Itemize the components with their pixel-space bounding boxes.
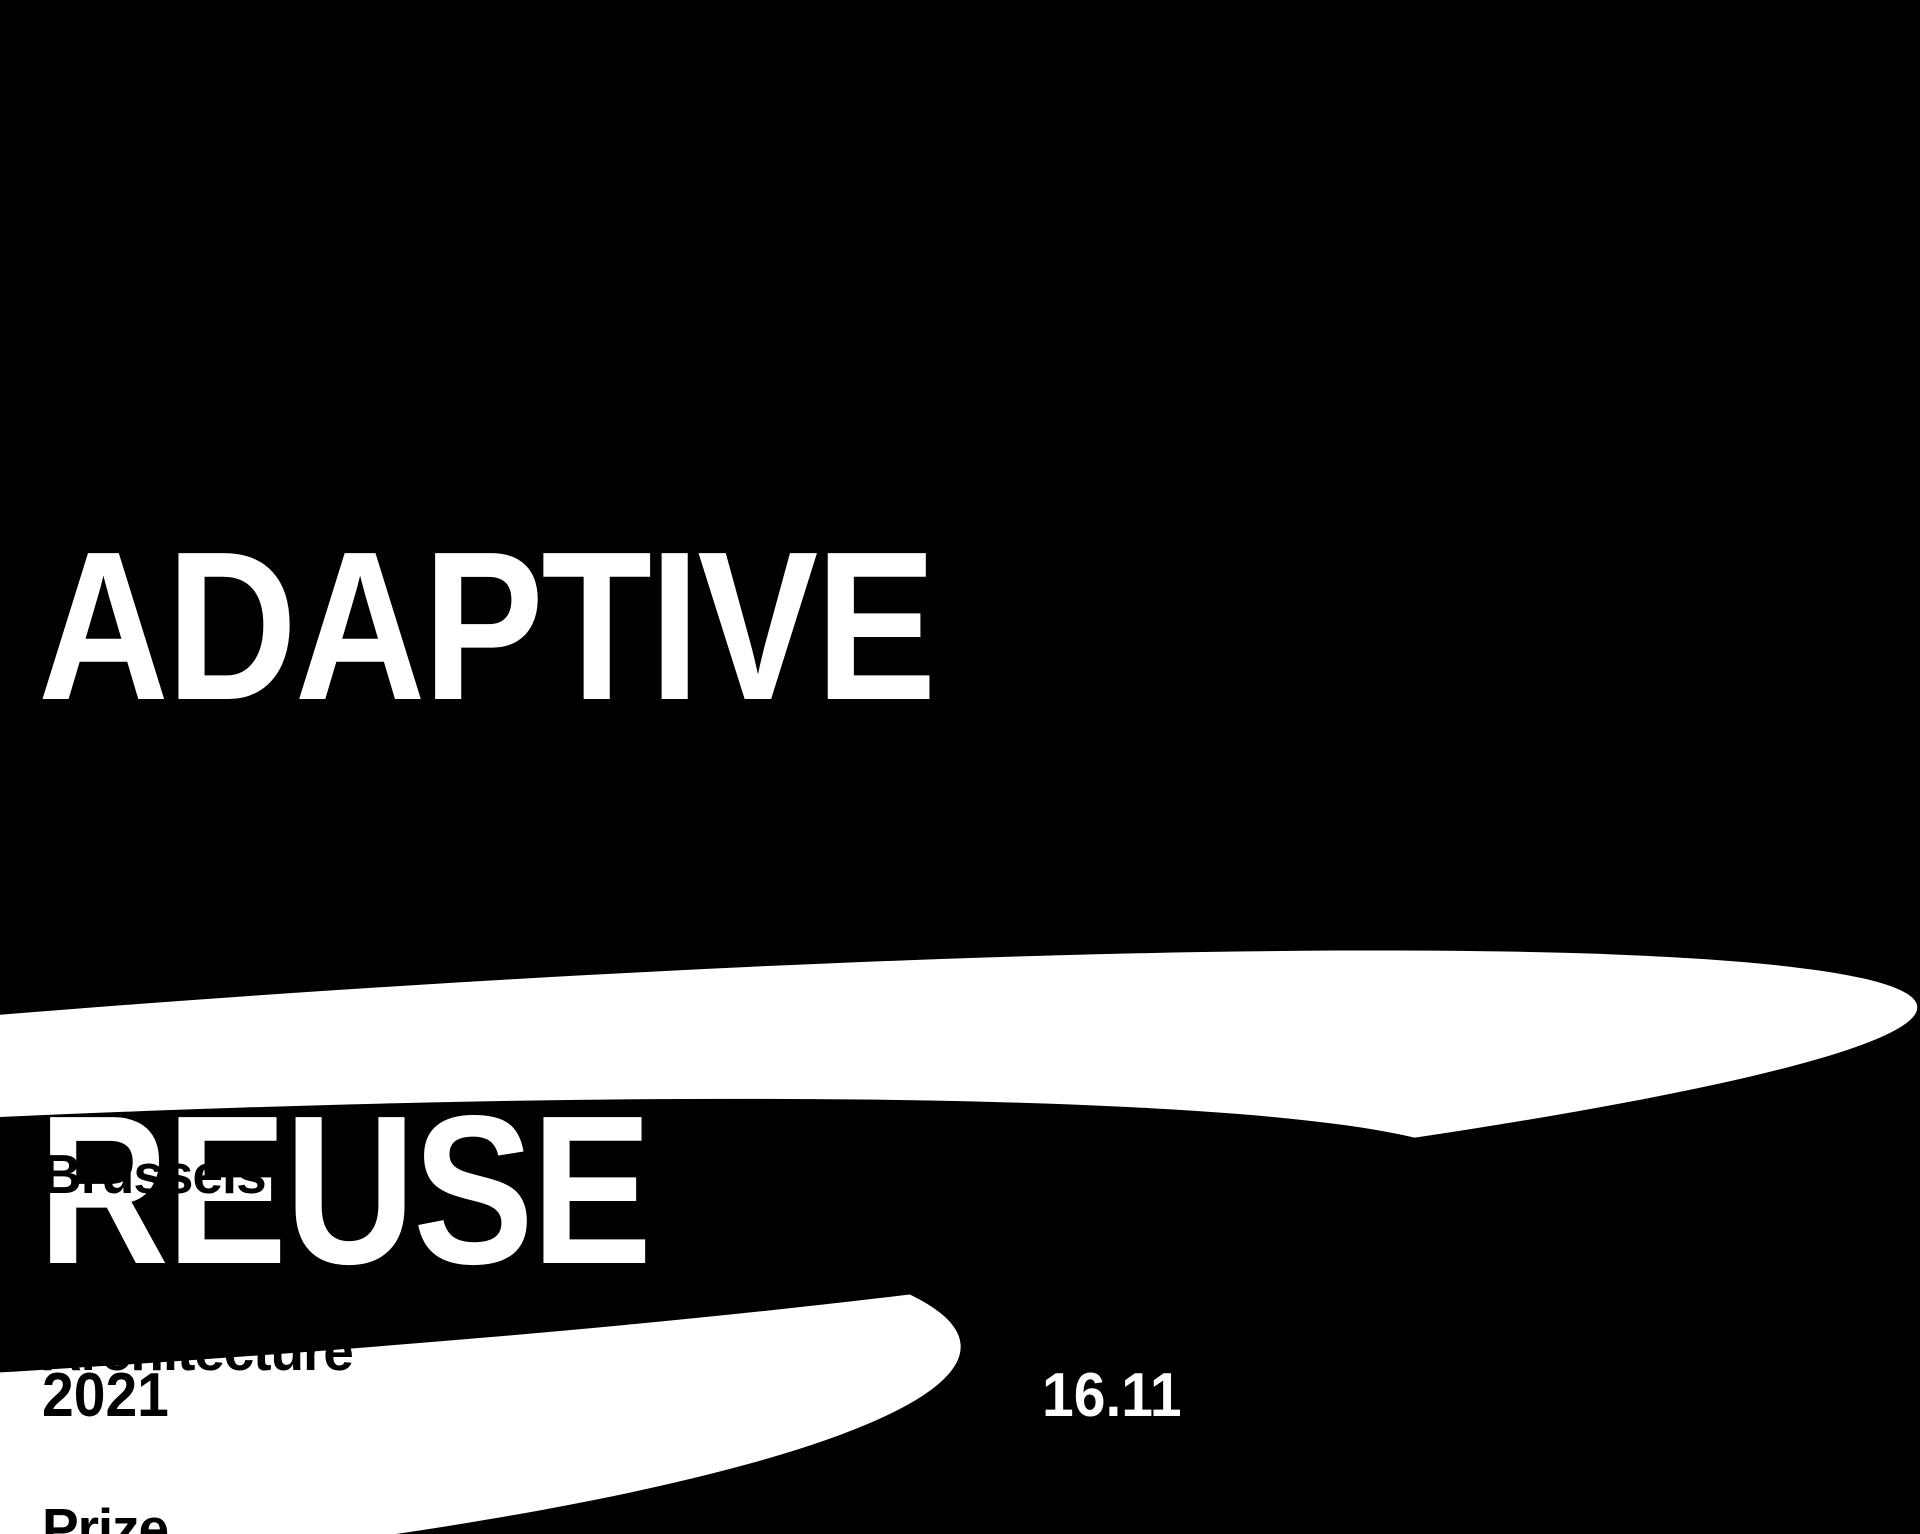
headline-line-1: ADAPTIVE (38, 532, 934, 720)
organisation-line-1: Brussels (42, 1145, 353, 1204)
event-date-label: 16.11 (1042, 1362, 1182, 1430)
organisation-line-3: Prize (42, 1499, 353, 1534)
poster-canvas: ADAPTIVE REUSE Brussels Architecture Pri… (0, 0, 1920, 1534)
year-label: 2021 (42, 1362, 169, 1430)
organisation-name: Brussels Architecture Prize (42, 1027, 353, 1534)
